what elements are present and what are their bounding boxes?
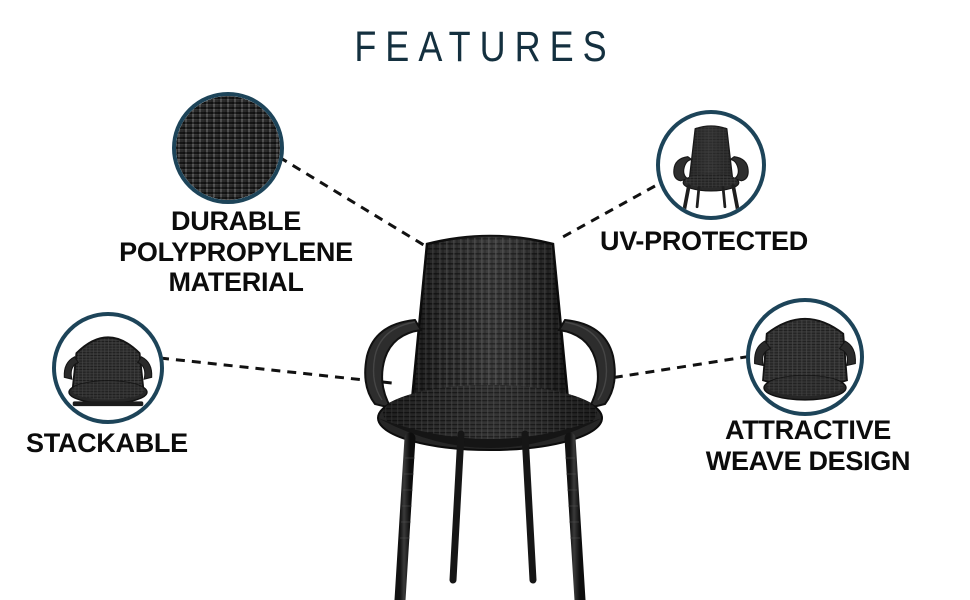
- product-chair-image: [355, 228, 625, 600]
- weave-texture-closeup-icon: [176, 96, 280, 200]
- callout-circle-durable-material: [172, 92, 284, 204]
- page-title: FEATURES: [0, 22, 970, 72]
- feature-label-uv-protected: UV-PROTECTED: [600, 226, 830, 257]
- feature-label-attractive-weave-design: ATTRACTIVE WEAVE DESIGN: [678, 415, 938, 476]
- features-infographic: FEATURES: [0, 0, 970, 600]
- feature-label-stackable: STACKABLE: [26, 428, 256, 459]
- callout-circle-uv-protected: [656, 110, 766, 220]
- full-chair-front-icon: [660, 114, 762, 216]
- callout-circle-attractive-weave: [746, 298, 864, 416]
- chair-seat-angle-icon: [56, 316, 160, 420]
- feature-label-durable-material: DURABLE POLYPROPYLENE MATERIAL: [86, 206, 386, 298]
- chair-back-weave-closeup-icon: [750, 302, 860, 412]
- callout-circle-stackable: [52, 312, 164, 424]
